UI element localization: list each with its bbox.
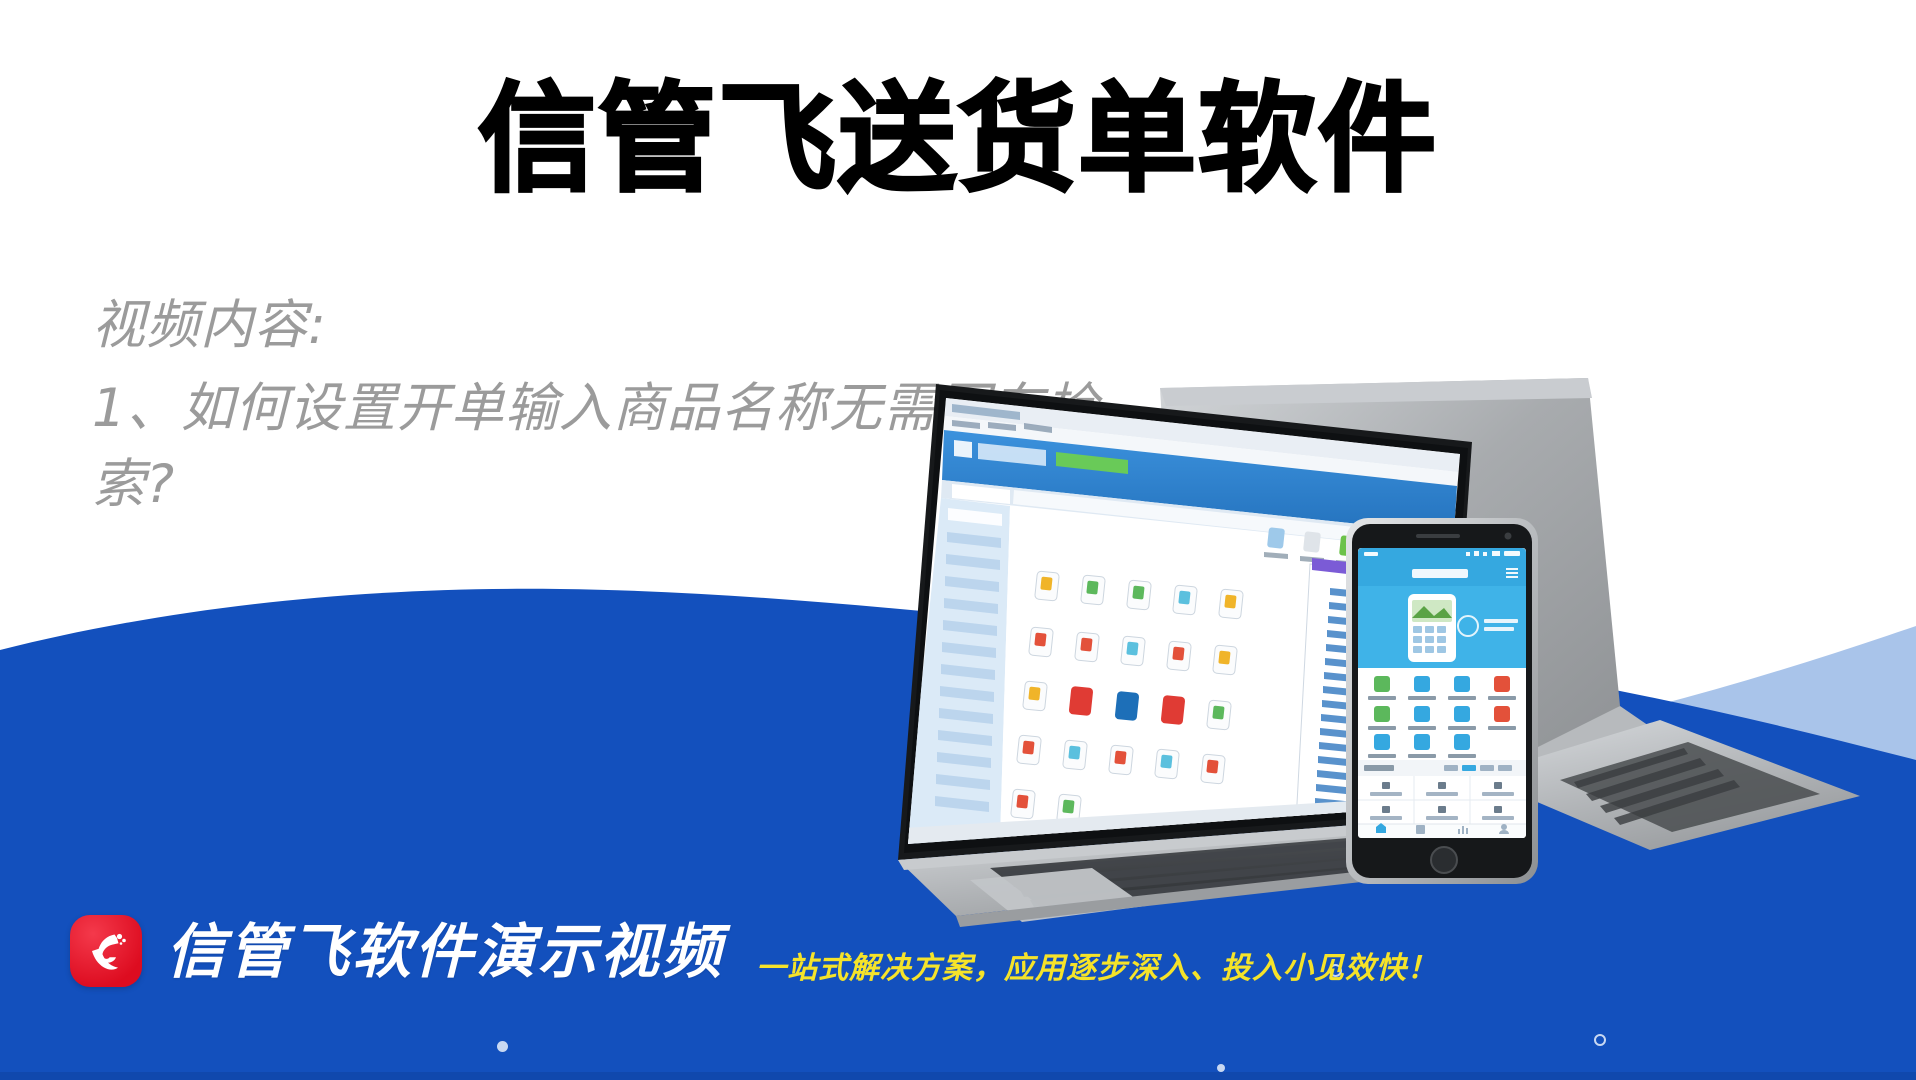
decor-dot-4: [1594, 1034, 1606, 1046]
device-cluster: [860, 376, 1916, 936]
wave-accent: [0, 1072, 1916, 1080]
slide-root: 信管飞送货单软件 视频内容: 1、如何设置开单输入商品名称无需回车检 索?: [0, 0, 1916, 1080]
page-title: 信管飞送货单软件: [0, 78, 1916, 202]
devices-illustration: [860, 376, 1916, 936]
brand-name: 信管飞软件演示视频: [166, 922, 724, 981]
phone-screen: [1358, 548, 1526, 838]
decor-dot-1: [497, 1041, 508, 1052]
brand-tagline: 一站式解决方案，应用逐步深入、投入小见效快！: [756, 954, 1438, 984]
xingguanfei-bird-logo-icon: [70, 915, 142, 987]
video-content-heading: 视频内容:: [92, 288, 1102, 363]
brand-lockup: 信管飞软件演示视频: [70, 915, 724, 987]
smartphone: [1346, 518, 1538, 884]
decor-dot-3: [1217, 1064, 1225, 1072]
